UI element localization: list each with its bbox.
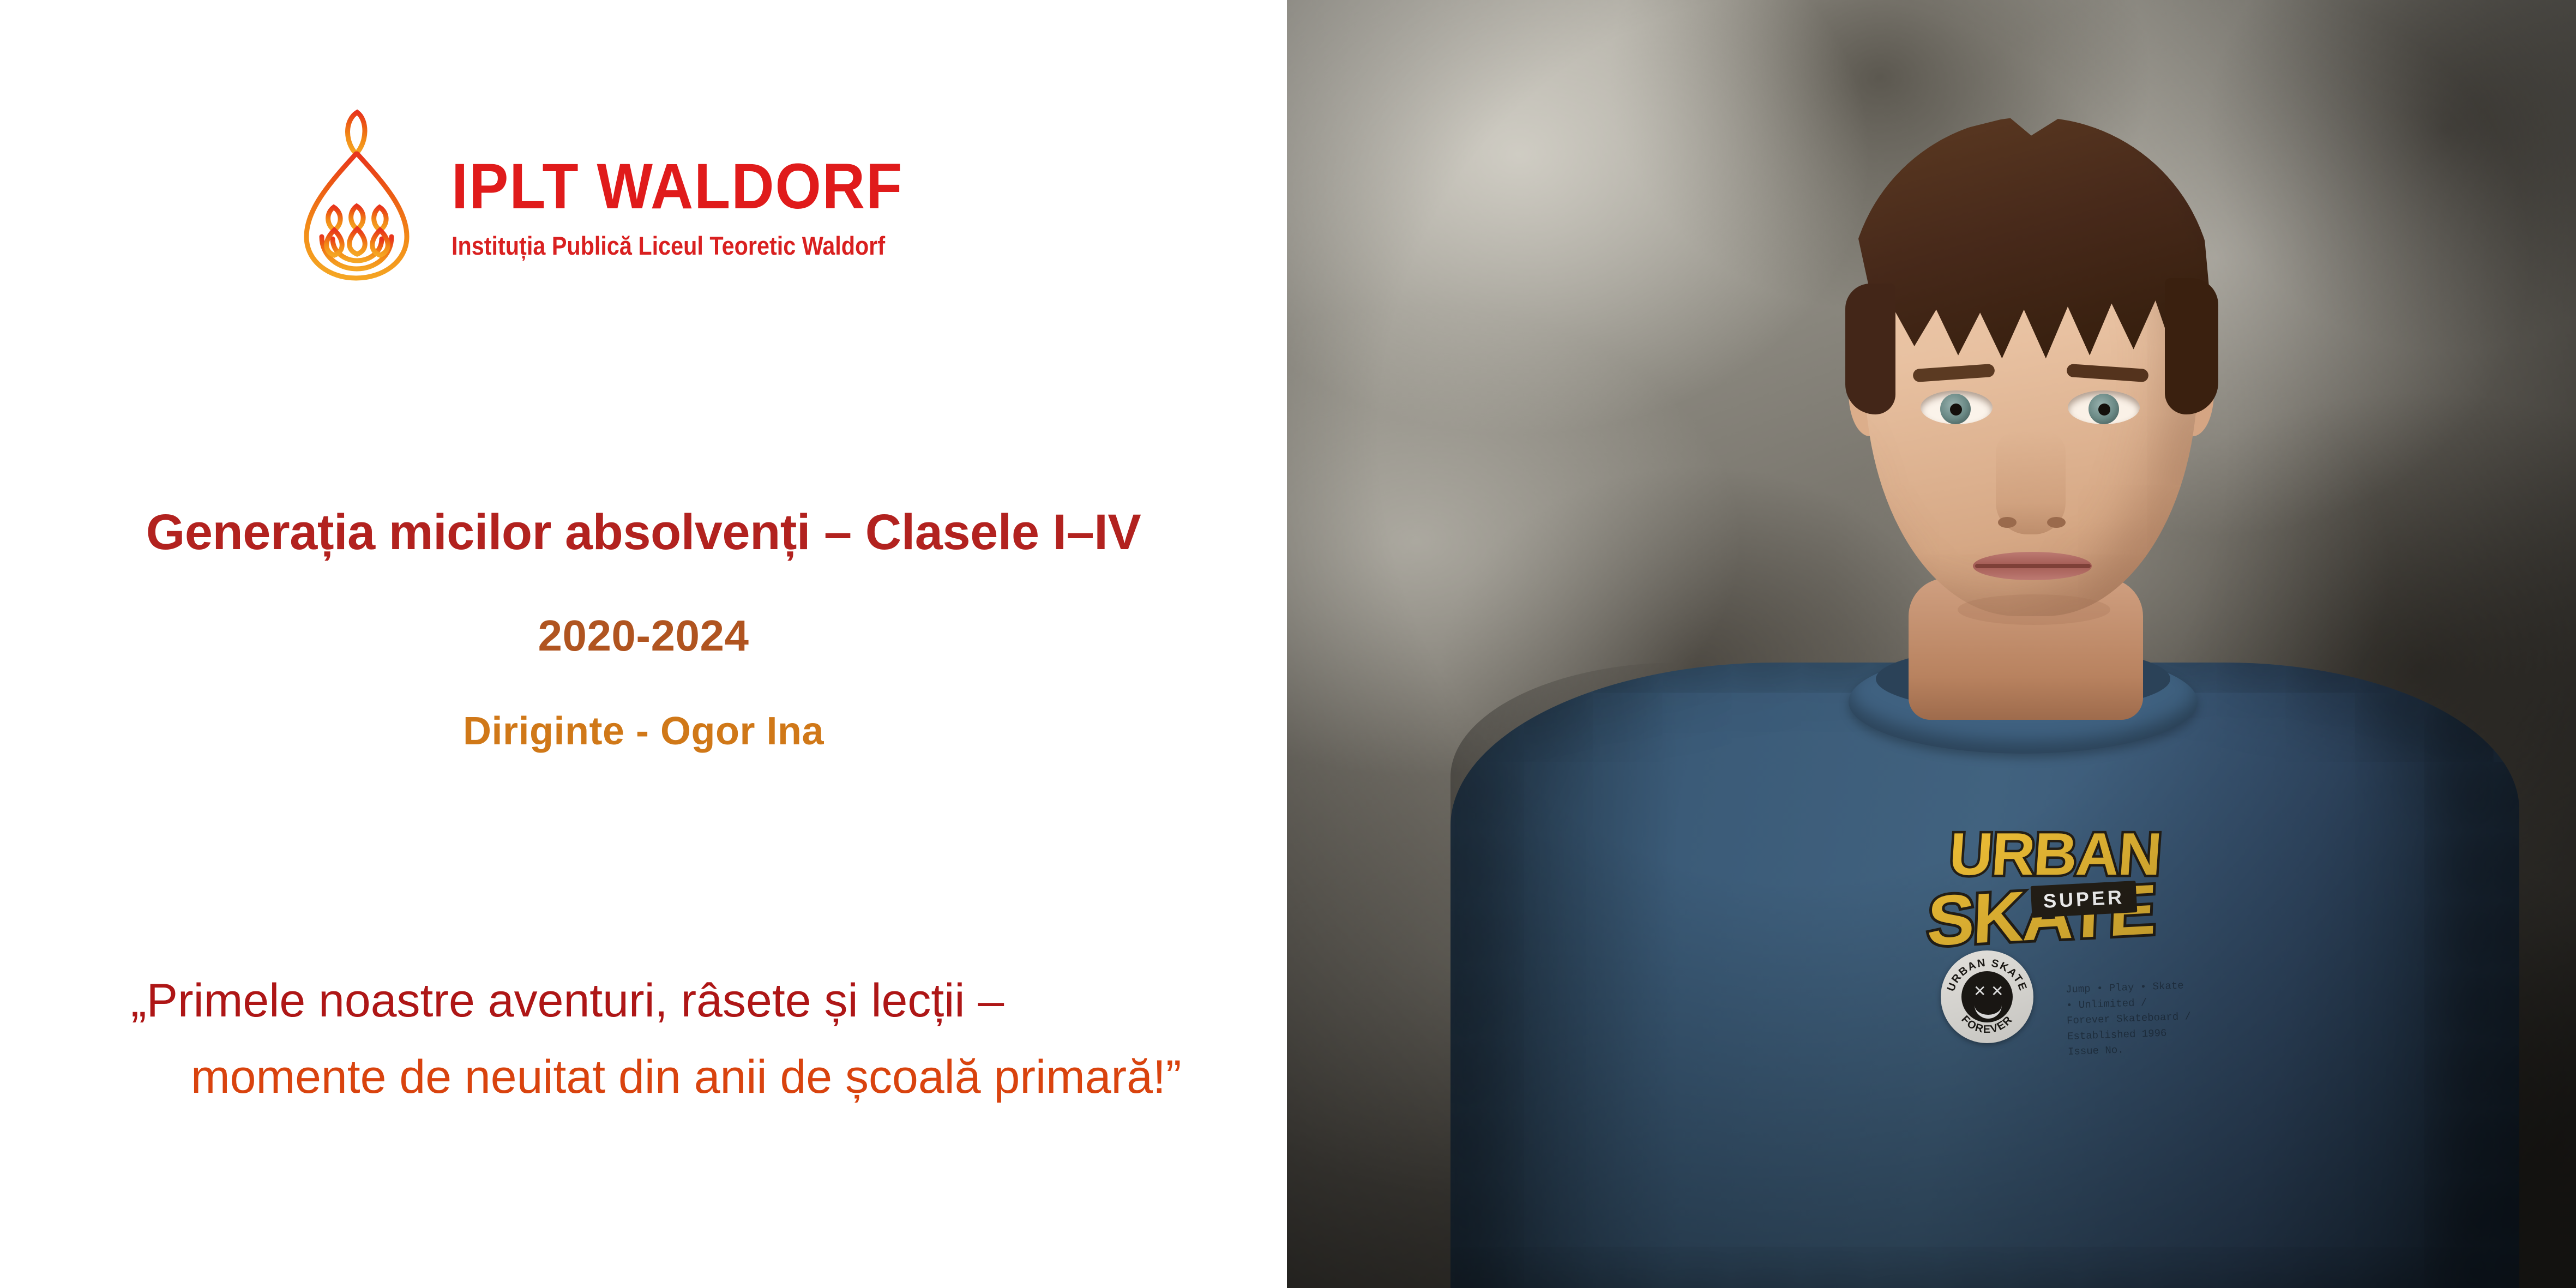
page-title: Generația micilor absolvenți – Clasele I…: [0, 504, 1287, 561]
waldorf-flame-loops-logo-icon: [294, 104, 420, 284]
photo-vignette: [1287, 0, 2576, 1288]
poster-root: IPLT WALDORF Instituția Publică Liceul T…: [0, 0, 2576, 1288]
logo-title: IPLT WALDORF: [452, 154, 905, 219]
title-block: Generația micilor absolvenți – Clasele I…: [0, 504, 1287, 754]
quote-line-two: momente de neuitat din anii de școală pr…: [0, 1031, 1287, 1107]
logo-wordmark: IPLT WALDORF Instituția Publică Liceul T…: [452, 129, 944, 258]
graduation-years: 2020-2024: [0, 561, 1287, 661]
school-logo-lockup: IPLT WALDORF Instituția Publică Liceul T…: [294, 104, 944, 284]
student-portrait-photo: URBAN SKATE SUPER URBAN SKATE FOREVER: [1287, 0, 2576, 1288]
quote-block: „Primele noastre aventuri, râsete și lec…: [0, 971, 1287, 1107]
left-text-panel: IPLT WALDORF Instituția Publică Liceul T…: [0, 0, 1287, 1288]
quote-line-one: „Primele noastre aventuri, râsete și lec…: [0, 971, 1287, 1031]
homeroom-teacher: Diriginte - Ogor Ina: [0, 661, 1287, 754]
logo-subtitle: Instituția Publică Liceul Teoretic Waldo…: [452, 233, 885, 258]
